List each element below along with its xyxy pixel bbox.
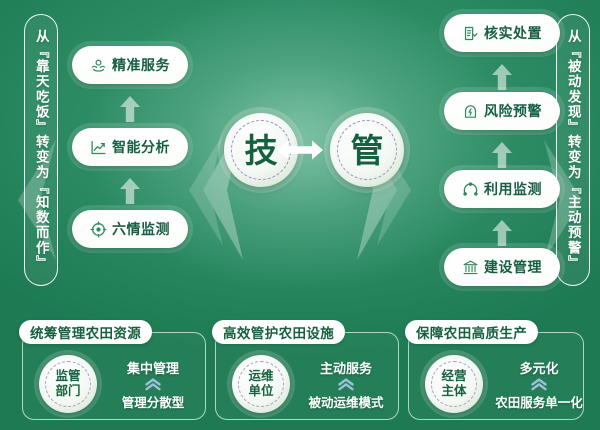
bottom-panel-2-role-label: 运维单位 [248, 369, 273, 400]
side-panel-right-text: 从『被动发现』转变为『主动预警』 [566, 29, 580, 271]
bank-building-icon [462, 259, 479, 276]
bottom-panel-3-transition: 多元化 农田服务单一化 [491, 355, 587, 413]
bottom-panel-2-transition: 主动服务 被动运维模式 [298, 355, 394, 413]
double-chevron-up-icon [144, 378, 162, 391]
bottom-panel-3-to-state: 多元化 [519, 358, 558, 377]
bottom-panel-3-title: 保障农田高质生产 [416, 322, 527, 342]
infographic-canvas: 从『靠天吃饭』转变为『知数而作』 从『被动发现』转变为『主动预警』 精准服务 [0, 0, 600, 430]
card-construction-management-label: 建设管理 [484, 257, 542, 277]
card-risk-warning[interactable]: 风险预警 [444, 92, 560, 130]
bottom-panel-3-role-label: 经营主体 [441, 369, 466, 400]
center-circle-management-label: 管 [351, 134, 384, 167]
card-verification-disposal-label: 核实处置 [484, 23, 542, 43]
center-circle-technology-label: 技 [245, 134, 278, 167]
card-utilization-monitoring[interactable]: 利用监测 [444, 170, 560, 208]
bottom-panel-2-to-state: 主动服务 [320, 358, 372, 377]
side-panel-left: 从『靠天吃饭』转变为『知数而作』 [24, 14, 58, 286]
bottom-panel-1-to-state: 集中管理 [127, 358, 179, 377]
bottom-panel-farmland-resources: 统筹管理农田资源 监管部门 集中管理 管理分散型 [22, 332, 206, 420]
hand-seedling-icon [90, 57, 107, 74]
top-section: 从『靠天吃饭』转变为『知数而作』 从『被动发现』转变为『主动预警』 精准服务 [0, 0, 600, 300]
bottom-panel-2-role-circle[interactable]: 运维单位 [232, 355, 290, 413]
up-arrow-left-1-icon [120, 96, 140, 122]
bottom-panel-1-title-tab: 统筹管理农田资源 [19, 320, 152, 344]
shield-bolt-icon [462, 103, 479, 120]
card-six-condition-monitoring-label: 六情监测 [112, 219, 170, 239]
bottom-panel-3-role-circle[interactable]: 经营主体 [425, 355, 483, 413]
target-crosshair-icon [90, 221, 107, 238]
bottom-panel-3-title-tab: 保障农田高质生产 [405, 320, 538, 344]
recycle-nodes-icon [462, 181, 479, 198]
line-chart-icon [90, 139, 107, 156]
clipboard-check-icon [462, 25, 479, 42]
bottom-panel-1-role-label: 监管部门 [55, 369, 80, 400]
double-chevron-up-icon [337, 378, 355, 391]
up-arrow-right-1-icon [492, 64, 512, 90]
card-smart-analysis[interactable]: 智能分析 [72, 128, 188, 166]
card-precise-service-label: 精准服务 [112, 55, 170, 75]
card-construction-management[interactable]: 建设管理 [444, 248, 560, 286]
side-panel-left-text: 从『靠天吃饭』转变为『知数而作』 [34, 29, 48, 271]
bottom-panel-1-from-state: 管理分散型 [122, 392, 185, 411]
center-circle-management[interactable]: 管 [330, 113, 404, 187]
double-chevron-up-icon [530, 378, 548, 391]
bottom-panel-2-title: 高效管护农田设施 [223, 322, 334, 342]
card-six-condition-monitoring[interactable]: 六情监测 [72, 210, 188, 248]
bottom-panel-1-transition: 集中管理 管理分散型 [105, 355, 201, 413]
card-utilization-monitoring-label: 利用监测 [484, 179, 542, 199]
up-arrow-right-2-icon [492, 142, 512, 168]
bottom-panel-farmland-production: 保障农田高质生产 经营主体 多元化 农田服务单一化 [408, 332, 584, 420]
card-precise-service[interactable]: 精准服务 [72, 46, 188, 84]
bottom-panel-3-from-state: 农田服务单一化 [495, 392, 583, 411]
bottom-panel-farmland-facilities: 高效管护农田设施 运维单位 主动服务 被动运维模式 [215, 332, 399, 420]
bottom-panel-1-role-circle[interactable]: 监管部门 [39, 355, 97, 413]
up-arrow-left-2-icon [120, 178, 140, 204]
double-arrow-horizontal-icon [277, 137, 323, 163]
card-verification-disposal[interactable]: 核实处置 [444, 14, 560, 52]
bottom-panel-1-title: 统筹管理农田资源 [30, 322, 141, 342]
up-arrow-right-3-icon [492, 220, 512, 246]
bottom-panel-2-from-state: 被动运维模式 [308, 392, 383, 411]
card-smart-analysis-label: 智能分析 [112, 137, 170, 157]
card-risk-warning-label: 风险预警 [484, 101, 542, 121]
side-panel-right: 从『被动发现』转变为『主动预警』 [556, 14, 590, 286]
bottom-panel-2-title-tab: 高效管护农田设施 [212, 320, 345, 344]
